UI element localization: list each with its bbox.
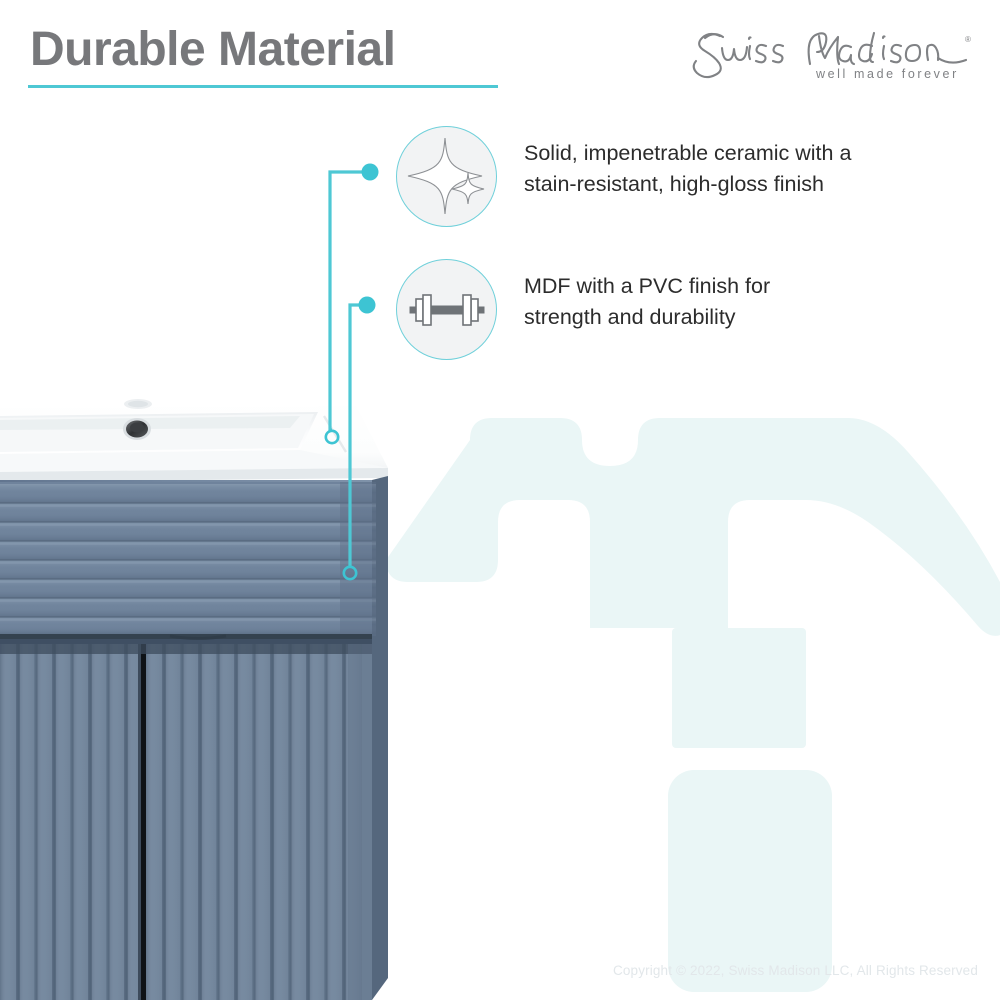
- connector-path-0: [330, 172, 363, 430]
- callout-endpoint-0: [326, 431, 338, 443]
- feature-line: stain-resistant, high-gloss finish: [524, 169, 924, 200]
- copyright-notice: Copyright © 2022, Swiss Madison LLC, All…: [613, 963, 978, 978]
- feature-label-ceramic: Solid, impenetrable ceramic with a stain…: [524, 138, 924, 200]
- feature-line: MDF with a PVC finish for: [524, 271, 924, 302]
- callout-endpoint-1: [344, 567, 356, 579]
- feature-label-mdf: MDF with a PVC finish for strength and d…: [524, 271, 924, 333]
- callout-dot-0: [362, 164, 379, 181]
- sparkle-shine-icon: [396, 126, 497, 227]
- feature-line: strength and durability: [524, 302, 924, 333]
- dumbbell-strength-icon: [396, 259, 497, 360]
- callout-dot-1: [359, 297, 376, 314]
- connector-path-1: [350, 305, 360, 566]
- feature-line: Solid, impenetrable ceramic with a: [524, 138, 924, 169]
